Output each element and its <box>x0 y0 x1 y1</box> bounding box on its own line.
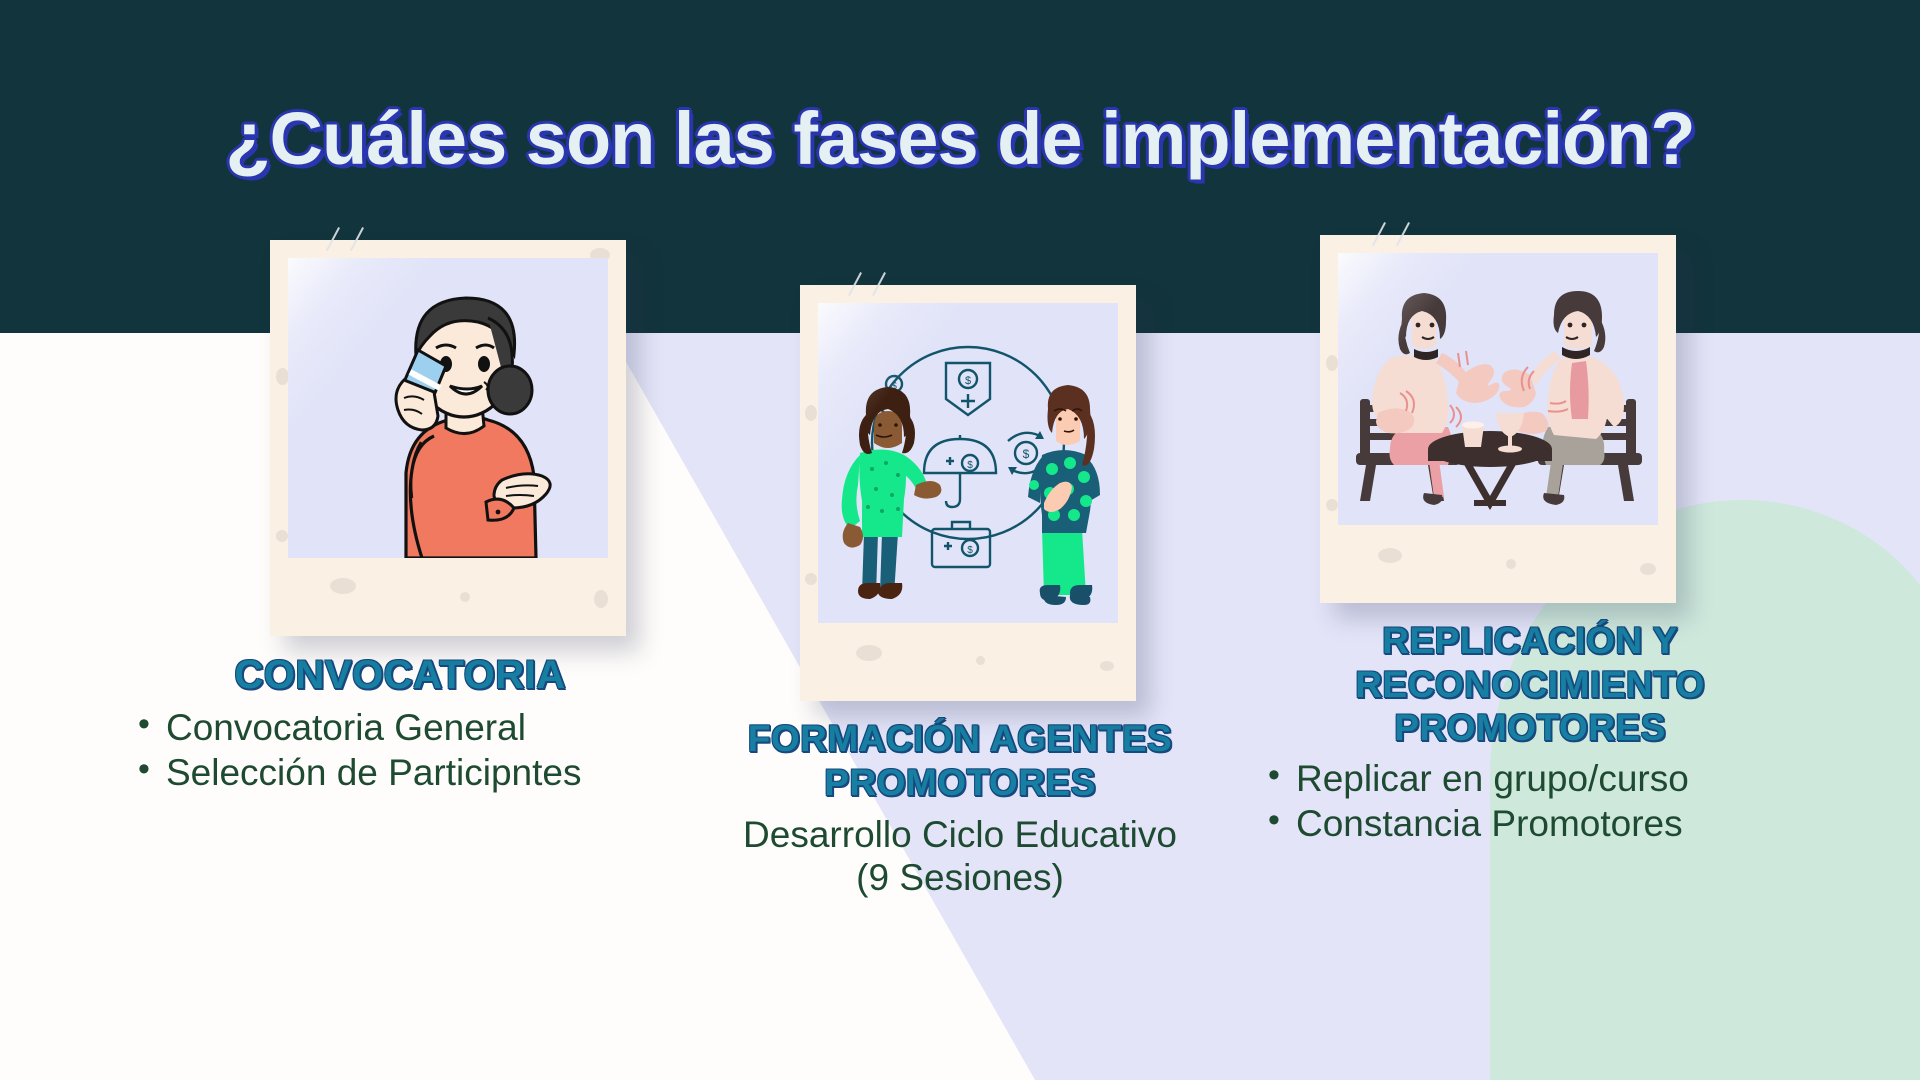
polaroid-frame-2: $ $ $ <box>800 285 1136 701</box>
woman-on-phone-illustration <box>288 258 608 558</box>
two-people-conversing-at-table-illustration <box>1338 253 1658 525</box>
page-title: ¿Cuáles son las fases de implementación? <box>0 96 1920 181</box>
svg-text:$: $ <box>967 545 973 556</box>
svg-text:$: $ <box>967 460 973 471</box>
phase-caption-2: FORMACIÓN AGENTES PROMOTORES <box>690 717 1230 804</box>
phase-column-1: CONVOCATORIA Convocatoria General Selecc… <box>120 240 680 797</box>
two-women-financial-icons-illustration: $ $ $ <box>818 303 1118 623</box>
phase-bullets-3: Replicar en grupo/curso Constancia Promo… <box>1250 758 1810 846</box>
photo-2: $ $ $ <box>818 303 1118 623</box>
list-item: Constancia Promotores <box>1296 803 1810 846</box>
phase-column-2: $ $ $ <box>690 285 1230 900</box>
phase-column-3: REPLICACIÓN Y RECONOCIMIENTO PROMOTORES … <box>1250 235 1810 848</box>
phase-bullets-1: Convocatoria General Selección de Partic… <box>120 707 680 795</box>
photo-1 <box>288 258 608 558</box>
phase-paragraph-2: Desarrollo Ciclo Educativo (9 Sesiones) <box>690 814 1230 900</box>
svg-text:$: $ <box>965 375 971 387</box>
photo-3 <box>1338 253 1658 525</box>
list-item: Selección de Participntes <box>166 752 680 795</box>
polaroid-frame-1 <box>270 240 626 636</box>
list-item: Replicar en grupo/curso <box>1296 758 1810 801</box>
list-item: Convocatoria General <box>166 707 680 750</box>
phase-caption-1: CONVOCATORIA <box>120 652 680 699</box>
phase-caption-3: REPLICACIÓN Y RECONOCIMIENTO PROMOTORES <box>1250 619 1810 750</box>
svg-text:$: $ <box>1023 447 1030 461</box>
slide-canvas: ¿Cuáles son las fases de implementación? <box>0 0 1920 1080</box>
polaroid-frame-3 <box>1320 235 1676 603</box>
